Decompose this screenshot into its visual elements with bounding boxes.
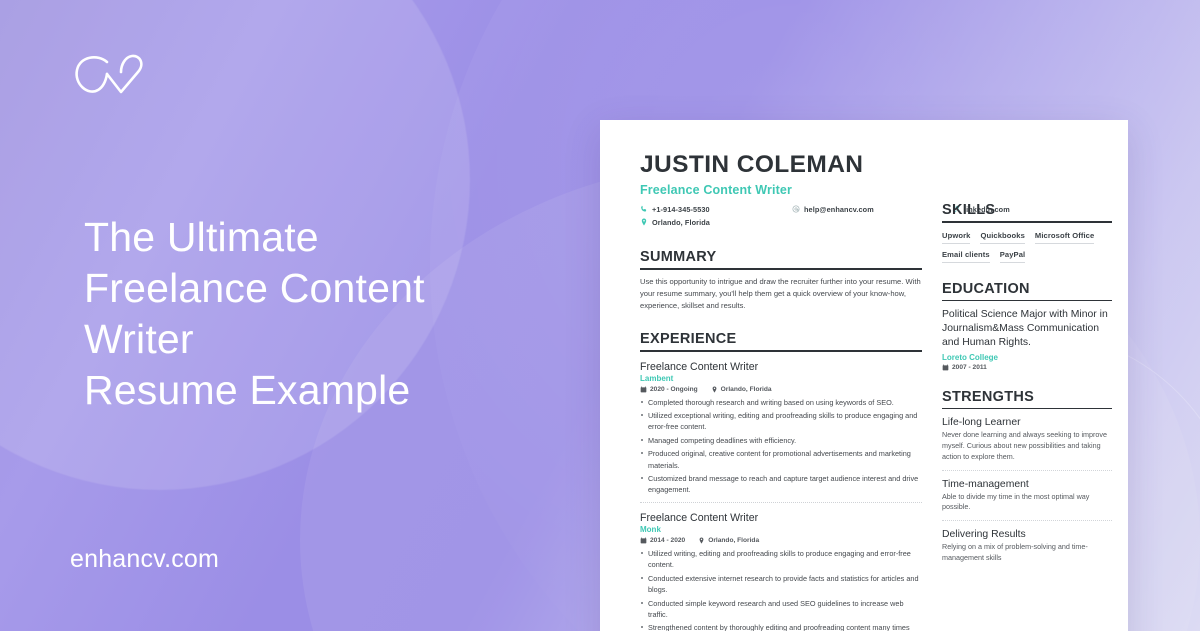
experience-dates-text: 2014 - 2020 (650, 537, 685, 544)
list-item: Produced original, creative content for … (640, 448, 922, 470)
promo-panel: The Ultimate Freelance Content Writer Re… (0, 0, 600, 631)
skill-tag[interactable]: Email clients (942, 250, 990, 263)
experience-item: Freelance Content Writer Monk 2 (640, 512, 922, 631)
experience-location: Orlando, Florida (698, 537, 759, 544)
education-school: Loreto College (942, 353, 1112, 362)
experience-location-text: Orlando, Florida (708, 537, 759, 544)
experience-dates: 2020 - Ongoing (640, 386, 698, 393)
section-heading-strengths: STRENGTHS (942, 389, 1112, 405)
contact-phone[interactable]: +1-914-345-5530 (640, 205, 792, 214)
experience-title: Freelance Content Writer (640, 361, 922, 373)
list-item: Managed competing deadlines with efficie… (640, 435, 922, 446)
education-degree: Political Science Major with Minor in Jo… (942, 308, 1112, 349)
section-heading-experience: EXPERIENCE (640, 331, 922, 347)
divider (640, 502, 922, 503)
strength-title: Life-long Learner (942, 417, 1112, 428)
experience-dates-text: 2020 - Ongoing (650, 386, 698, 393)
promo-website[interactable]: enhancv.com (70, 545, 219, 574)
strength-item: Delivering Results Relying on a mix of p… (942, 529, 1112, 564)
strength-text: Relying on a mix of problem-solving and … (942, 542, 1112, 564)
section-heading-skills: SKILLS (942, 202, 1112, 218)
calendar-icon (640, 537, 647, 544)
calendar-icon (942, 364, 949, 371)
candidate-job-title: Freelance Content Writer (640, 183, 922, 197)
calendar-icon (640, 386, 647, 393)
strength-title: Time-management (942, 479, 1112, 490)
list-item: Utilized writing, editing and proofreadi… (640, 548, 922, 570)
list-item: Completed thorough research and writing … (640, 397, 922, 408)
location-pin-icon (698, 537, 705, 544)
location-pin-icon (640, 218, 648, 226)
contact-email-text: help@enhancv.com (804, 205, 874, 214)
strength-item: Life-long Learner Never done learning an… (942, 417, 1112, 470)
enhancv-infinity-logo-icon[interactable] (68, 52, 152, 104)
list-item: Conducted simple keyword research and us… (640, 598, 922, 620)
contact-phone-text: +1-914-345-5530 (652, 205, 710, 214)
strength-title: Delivering Results (942, 529, 1112, 540)
divider (942, 470, 1112, 471)
resume-preview-card[interactable]: JUSTIN COLEMAN Freelance Content Writer … (600, 120, 1128, 631)
section-heading-summary: SUMMARY (640, 249, 922, 265)
phone-icon (640, 205, 648, 213)
education-dates-text: 2007 - 2011 (952, 364, 987, 371)
experience-dates: 2014 - 2020 (640, 537, 685, 544)
experience-location-text: Orlando, Florida (721, 386, 772, 393)
experience-bullets: Completed thorough research and writing … (640, 397, 922, 496)
skill-tag[interactable]: Upwork (942, 231, 970, 244)
list-item: Strengthened content by thoroughly editi… (640, 622, 922, 631)
section-rule-experience (640, 350, 922, 352)
section-rule-strengths (942, 408, 1112, 410)
skills-list: Upwork Quickbooks Microsoft Office Email… (942, 231, 1112, 263)
contact-location-text: Orlando, Florida (652, 218, 710, 227)
experience-company: Lambent (640, 374, 922, 383)
list-item: Customized brand message to reach and ca… (640, 473, 922, 495)
promo-headline: The Ultimate Freelance Content Writer Re… (84, 212, 554, 416)
skill-tag[interactable]: Microsoft Office (1035, 231, 1094, 244)
section-heading-education: EDUCATION (942, 281, 1112, 297)
resume-main-column: JUSTIN COLEMAN Freelance Content Writer … (640, 152, 922, 631)
experience-title: Freelance Content Writer (640, 512, 922, 524)
candidate-name: JUSTIN COLEMAN (640, 152, 922, 178)
strength-text: Able to divide my time in the most optim… (942, 492, 1112, 514)
skill-tag[interactable]: Quickbooks (980, 231, 1024, 244)
summary-text: Use this opportunity to intrigue and dra… (640, 276, 922, 313)
divider (942, 520, 1112, 521)
skill-tag[interactable]: PayPal (1000, 250, 1026, 263)
section-rule-education (942, 300, 1112, 302)
strength-item: Time-management Able to divide my time i… (942, 479, 1112, 522)
experience-company: Monk (640, 525, 922, 534)
contact-location: Orlando, Florida (640, 218, 792, 227)
education-dates: 2007 - 2011 (942, 364, 987, 371)
resume-side-column: SKILLS Upwork Quickbooks Microsoft Offic… (942, 152, 1112, 631)
experience-bullets: Utilized writing, editing and proofreadi… (640, 548, 922, 631)
list-item: Conducted extensive internet research to… (640, 573, 922, 595)
section-rule-summary (640, 268, 922, 270)
experience-location: Orlando, Florida (711, 386, 772, 393)
promo-banner: The Ultimate Freelance Content Writer Re… (0, 0, 1200, 631)
list-item: Utilized exceptional writing, editing an… (640, 410, 922, 432)
location-pin-icon (711, 386, 718, 393)
strength-text: Never done learning and always seeking t… (942, 430, 1112, 462)
experience-item: Freelance Content Writer Lambent (640, 361, 922, 504)
section-rule-skills (942, 221, 1112, 223)
email-icon (792, 205, 800, 213)
contact-email[interactable]: help@enhancv.com (792, 205, 952, 214)
